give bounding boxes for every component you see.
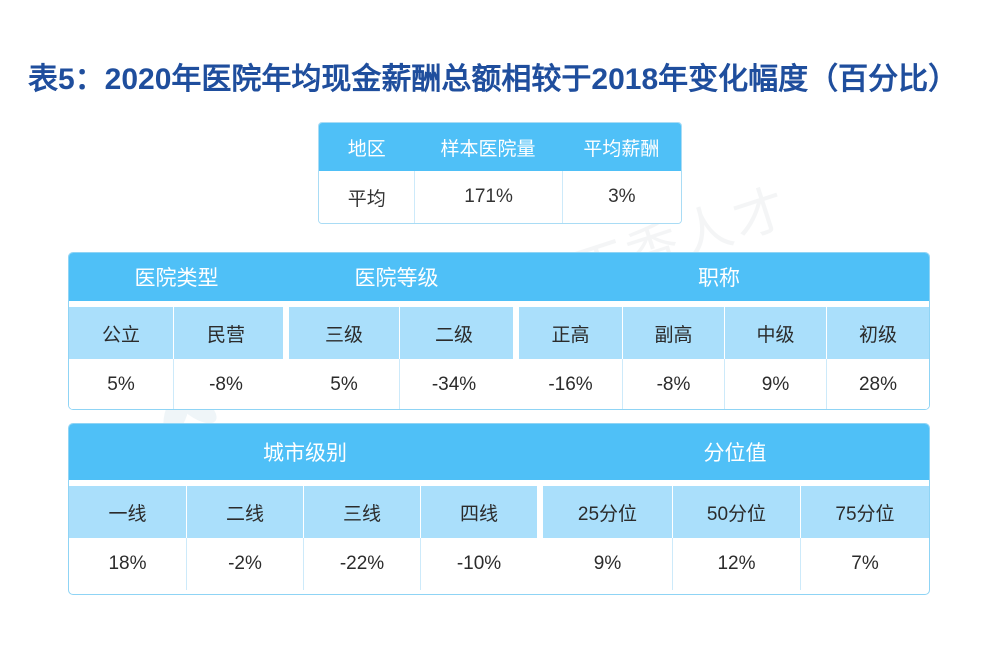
value-junior: 28% — [826, 359, 929, 410]
summary-table: 地区 样本医院量 平均薪酬 平均 171% 3% — [318, 122, 682, 224]
sub-header-row: 一线 二线 三线 四线 — [69, 486, 537, 538]
value-row: -16% -8% 9% 28% — [519, 359, 929, 410]
sub-header-tier4: 四线 — [420, 486, 537, 538]
sub-header-row: 三级 二级 — [289, 307, 513, 359]
group-block-hospital-level: 三级 二级 5% -34% — [289, 307, 513, 410]
value-p50: 12% — [672, 538, 800, 590]
group-block-city-tier: 一线 二线 三线 四线 18% -2% -22% -10% — [69, 486, 537, 590]
value-mid: 9% — [724, 359, 826, 410]
summary-cell-avgpay: 3% — [562, 171, 681, 223]
value-tier1: 18% — [69, 538, 186, 590]
group-header-hospital-type: 医院类型 — [69, 253, 284, 301]
group-header-row: 医院类型 医院等级 职称 — [69, 253, 929, 301]
sub-header-public: 公立 — [69, 307, 173, 359]
group-header-hospital-level: 医院等级 — [284, 253, 509, 301]
sub-header-p25: 25分位 — [543, 486, 672, 538]
sub-header-junior: 初级 — [826, 307, 929, 359]
value-row: 5% -34% — [289, 359, 513, 410]
sub-header-tier3: 三线 — [303, 486, 420, 538]
sub-header-secondary: 二级 — [399, 307, 508, 359]
sub-and-value-area: 一线 二线 三线 四线 18% -2% -22% -10% 25分位 50分位 … — [69, 486, 929, 590]
value-tier2: -2% — [186, 538, 303, 590]
group-header-percentile: 分位值 — [541, 424, 929, 480]
summary-header-avgpay: 平均薪酬 — [562, 123, 681, 171]
sub-header-assoc: 副高 — [622, 307, 724, 359]
grouped-table-hospital: 医院类型 医院等级 职称 公立 民营 5% -8% 三级 二级 — [68, 252, 930, 410]
group-header-title-rank: 职称 — [509, 253, 929, 301]
sub-header-private: 民营 — [173, 307, 278, 359]
sub-header-tertiary: 三级 — [289, 307, 399, 359]
sub-header-p75: 75分位 — [800, 486, 929, 538]
summary-header-region: 地区 — [319, 123, 414, 171]
page-title: 表5：2020年医院年均现金薪酬总额相较于2018年变化幅度（百分比） — [28, 54, 958, 98]
summary-header-sample: 样本医院量 — [414, 123, 561, 171]
value-assoc: -8% — [622, 359, 724, 410]
value-row: 18% -2% -22% -10% — [69, 538, 537, 590]
value-p75: 7% — [800, 538, 929, 590]
value-private: -8% — [173, 359, 278, 410]
sub-header-mid: 中级 — [724, 307, 826, 359]
page-root: 丁香园 丁香人才 表5：2020年医院年均现金薪酬总额相较于2018年变化幅度（… — [0, 0, 1000, 656]
sub-header-row: 25分位 50分位 75分位 — [543, 486, 929, 538]
summary-cell-region: 平均 — [319, 171, 414, 223]
value-tier3: -22% — [303, 538, 420, 590]
sub-header-tier2: 二线 — [186, 486, 303, 538]
value-secondary: -34% — [399, 359, 508, 410]
group-block-title-rank: 正高 副高 中级 初级 -16% -8% 9% 28% — [519, 307, 929, 410]
sub-header-p50: 50分位 — [672, 486, 800, 538]
sub-and-value-area: 公立 民营 5% -8% 三级 二级 5% -34% — [69, 307, 929, 410]
value-p25: 9% — [543, 538, 672, 590]
value-row: 5% -8% — [69, 359, 283, 410]
summary-table-row: 平均 171% 3% — [319, 171, 681, 223]
sub-header-tier1: 一线 — [69, 486, 186, 538]
group-block-percentile: 25分位 50分位 75分位 9% 12% 7% — [543, 486, 929, 590]
grouped-table-city-percentile: 城市级别 分位值 一线 二线 三线 四线 18% -2% -22% -10% — [68, 423, 930, 595]
value-senior: -16% — [519, 359, 622, 410]
value-public: 5% — [69, 359, 173, 410]
value-tertiary: 5% — [289, 359, 399, 410]
group-header-row: 城市级别 分位值 — [69, 424, 929, 480]
summary-cell-sample: 171% — [414, 171, 561, 223]
sub-header-row: 正高 副高 中级 初级 — [519, 307, 929, 359]
group-block-hospital-type: 公立 民营 5% -8% — [69, 307, 283, 410]
sub-header-senior: 正高 — [519, 307, 622, 359]
value-row: 9% 12% 7% — [543, 538, 929, 590]
summary-table-header-row: 地区 样本医院量 平均薪酬 — [319, 123, 681, 171]
value-tier4: -10% — [420, 538, 537, 590]
sub-header-row: 公立 民营 — [69, 307, 283, 359]
group-header-city-tier: 城市级别 — [69, 424, 541, 480]
